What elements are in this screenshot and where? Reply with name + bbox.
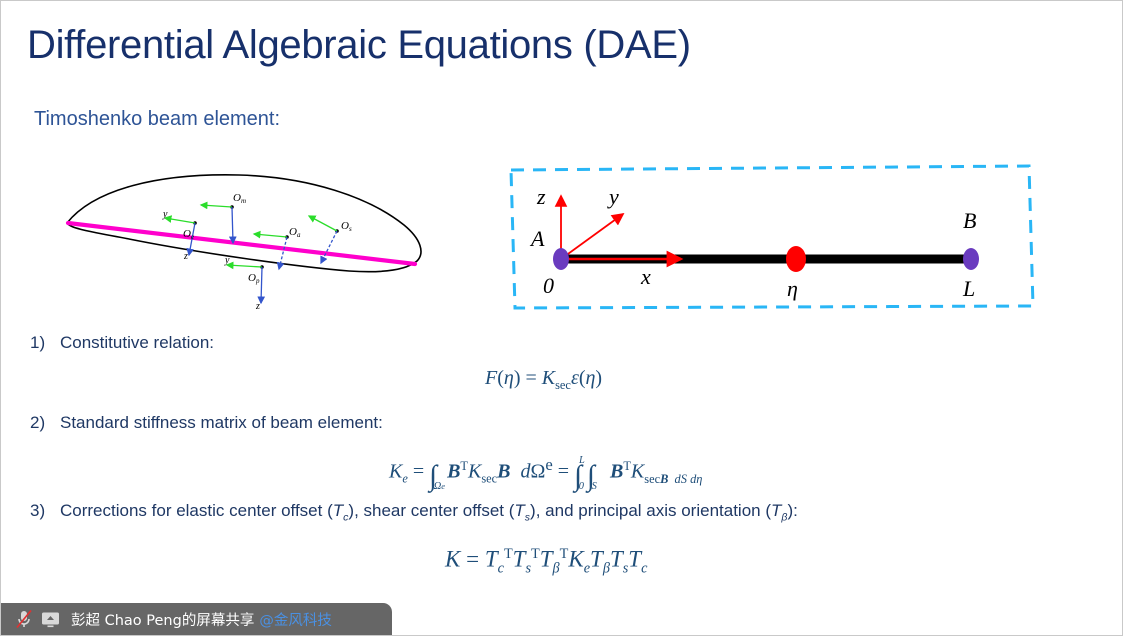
airfoil-svg: Om y Oe z Oa Os y Op z: [49, 161, 439, 321]
item3-ts: T: [514, 501, 524, 520]
label-os: Os: [341, 220, 352, 233]
label-oe-y: y: [162, 209, 168, 220]
list-item-2: 2)Standard stiffness matrix of beam elem…: [30, 413, 383, 433]
label-node-b-coord: L: [962, 276, 975, 301]
list-item-3-number: 3): [30, 501, 60, 521]
beam-svg: A 0 B L η z y x: [501, 156, 1041, 316]
label-op: Op: [248, 272, 260, 285]
item3-tb: T: [771, 501, 781, 520]
equation-1: F(η) = Ksecε(η): [485, 367, 602, 393]
list-item-1-label: Constitutive relation:: [60, 333, 214, 352]
op-z-axis-arrow: [261, 267, 262, 303]
equation-3: K = TcTTsTTβTKeTβTsTc: [445, 546, 647, 577]
item3-tail: ):: [787, 501, 797, 520]
label-node-eta: η: [787, 276, 798, 301]
label-oe: Oe: [183, 228, 194, 241]
page-title: Differential Algebraic Equations (DAE): [27, 23, 691, 68]
status-bar-text: 彭超 Chao Peng的屏幕共享: [71, 609, 254, 630]
op-y-axis-arrow: [227, 265, 262, 267]
node-eta: [786, 246, 806, 272]
presentation-slide: Differential Algebraic Equations (DAE) T…: [0, 0, 1123, 636]
oa-y-axis-arrow: [254, 234, 287, 237]
label-oa: Oa: [289, 226, 301, 239]
beam-element-figure: A 0 B L η z y x: [501, 156, 1041, 316]
item3-tc: T: [333, 501, 343, 520]
list-item-2-number: 2): [30, 413, 60, 433]
node-a: [553, 248, 569, 270]
label-op-y: y: [224, 255, 230, 266]
label-axis-y: y: [607, 184, 619, 209]
equation-2: Ke = ∫Ωe BTKsecB dΩe = ∫0L ∫S BTKsecB dS…: [389, 455, 702, 490]
item3-mid1: ), shear center offset (: [348, 501, 514, 520]
label-op-z: z: [255, 301, 260, 312]
label-om: Om: [233, 192, 246, 205]
node-b: [963, 248, 979, 270]
label-node-b: B: [963, 208, 976, 233]
list-item-1: 1)Constitutive relation:: [30, 333, 214, 353]
subtitle-label: Timoshenko beam element:: [34, 108, 280, 131]
screen-share-status-bar[interactable]: 彭超 Chao Peng的屏幕共享 @金风科技: [1, 603, 392, 635]
os-y-axis-arrow: [309, 216, 337, 231]
label-axis-x: x: [640, 264, 651, 289]
screen-share-icon[interactable]: [37, 607, 63, 631]
item3-mid2: ), and principal axis orientation (: [530, 501, 771, 520]
label-oe-z: z: [183, 251, 188, 262]
list-item-2-label: Standard stiffness matrix of beam elemen…: [60, 413, 383, 432]
status-bar-org: @金风科技: [259, 609, 332, 630]
list-item-3-lead: Corrections for elastic center offset (: [60, 501, 333, 520]
airfoil-cross-section-figure: Om y Oe z Oa Os y Op z: [49, 161, 439, 321]
microphone-muted-icon[interactable]: [11, 607, 37, 631]
list-item-1-number: 1): [30, 333, 60, 353]
label-node-a-coord: 0: [543, 273, 554, 298]
label-node-a: A: [529, 226, 545, 251]
om-z-axis-arrow: [232, 207, 233, 243]
element-boundary: [511, 166, 1033, 308]
om-y-axis-arrow: [201, 205, 232, 207]
oe-y-axis-arrow: [165, 218, 195, 223]
os-z-axis-arrow: [321, 231, 337, 263]
y-axis-arrow: [561, 214, 623, 259]
label-axis-z: z: [536, 184, 546, 209]
list-item-3: 3)Corrections for elastic center offset …: [30, 501, 798, 523]
